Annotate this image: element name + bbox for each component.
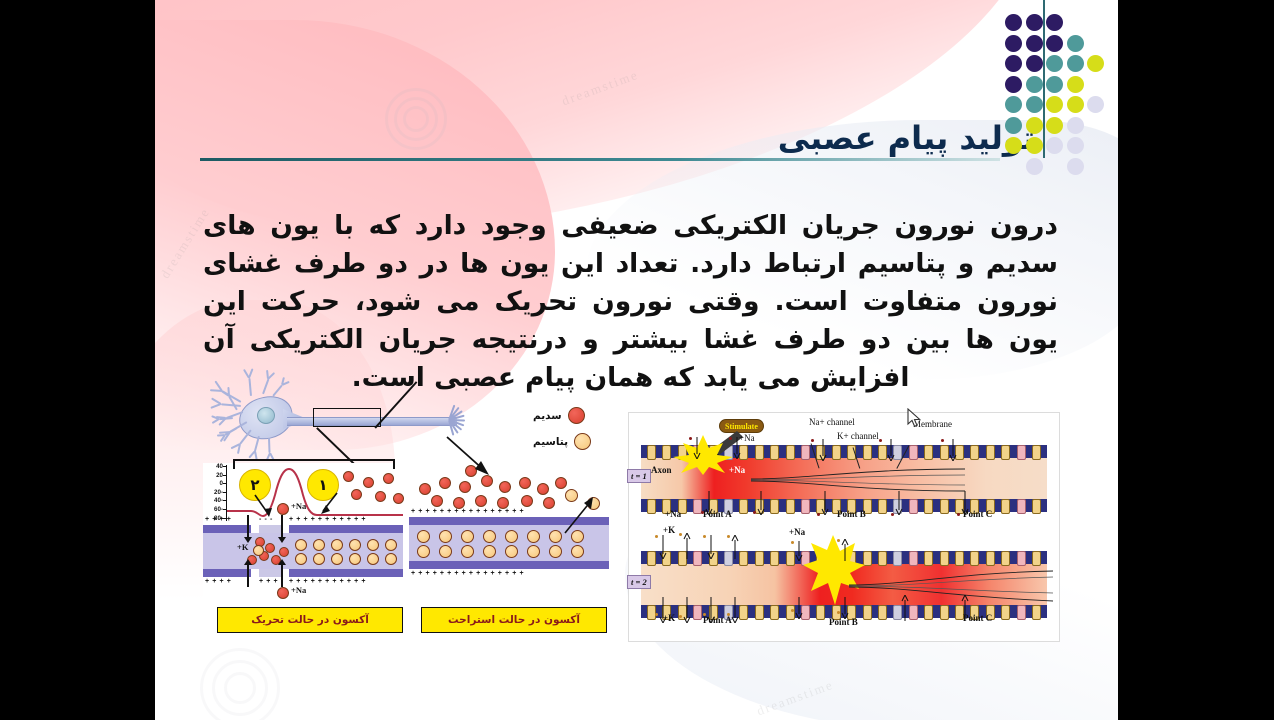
ion-transit-arrow bbox=[659, 535, 667, 559]
label-k-channel: K+ channel bbox=[837, 431, 879, 441]
graph-y-tick-mark bbox=[223, 483, 227, 484]
ion-sodium bbox=[439, 477, 451, 489]
na-channel-icon bbox=[739, 605, 748, 620]
current-flow-lines-t2 bbox=[847, 569, 1057, 603]
ion-sodium bbox=[521, 495, 533, 507]
ion-transit-arrow bbox=[901, 595, 909, 621]
logo-dot-purple bbox=[1005, 76, 1022, 93]
na-channel-icon bbox=[755, 551, 764, 566]
na-channel-icon bbox=[986, 445, 995, 460]
membrane-excited: + + + + - - - + + + + + + + + + + + + + … bbox=[203, 525, 403, 587]
ion-sodium bbox=[277, 503, 289, 515]
ion-sodium bbox=[499, 481, 511, 493]
logo-dot-lavender bbox=[1087, 96, 1104, 113]
mouse-pointer bbox=[907, 408, 921, 428]
ion-dot-sodium bbox=[957, 513, 960, 516]
k-channel-icon bbox=[693, 605, 702, 620]
na-channel-icon bbox=[770, 551, 779, 566]
logo-dot-teal bbox=[1005, 117, 1022, 134]
na-channel-icon bbox=[878, 445, 887, 460]
ion-dot-potassium bbox=[679, 615, 682, 618]
ion-transit-arrow bbox=[731, 535, 739, 559]
ion-transit-arrow bbox=[707, 535, 715, 559]
graph-pointer-arrow bbox=[315, 491, 341, 517]
label-sodium-ion-t1: Na+ bbox=[739, 433, 755, 443]
ion-transit-arrow bbox=[705, 491, 713, 515]
ion-potassium bbox=[367, 539, 379, 551]
flow-arrow-down bbox=[247, 515, 249, 537]
membrane-layer-open bbox=[259, 525, 283, 533]
logo-dot-purple bbox=[1026, 35, 1043, 52]
legend-item-potassium: پتاسیم bbox=[533, 433, 591, 450]
k-channel-icon bbox=[693, 551, 702, 566]
ion-potassium bbox=[349, 553, 361, 565]
ion-dot-potassium bbox=[703, 535, 706, 538]
logo-dot-lavender bbox=[1067, 137, 1084, 154]
ion-sodium bbox=[431, 495, 443, 507]
na-channel-icon bbox=[1032, 499, 1041, 514]
logo-dot-lavender bbox=[1046, 137, 1063, 154]
logo-dot-teal bbox=[1067, 35, 1084, 52]
presentation-slide: dreamstime dreamstime dreamstime dreamst… bbox=[155, 0, 1118, 720]
ion-transit-arrow bbox=[795, 541, 803, 561]
na-channel-icon bbox=[647, 551, 656, 566]
label-axon: Axon bbox=[651, 465, 672, 475]
na-channel-icon bbox=[1001, 605, 1010, 620]
logo-dot-teal bbox=[1026, 76, 1043, 93]
screenshot-stage: dreamstime dreamstime dreamstime dreamst… bbox=[0, 0, 1274, 720]
watermark-spiral-icon bbox=[200, 648, 280, 720]
ion-sodium bbox=[277, 587, 289, 599]
ion-dot-potassium bbox=[679, 533, 682, 536]
dendrite-branch bbox=[227, 387, 230, 396]
logo-dot-purple bbox=[1026, 55, 1043, 72]
graph-y-tick-mark bbox=[223, 509, 227, 510]
current-flow-lines-t1 bbox=[749, 465, 969, 495]
logo-dot-yellow bbox=[1046, 117, 1063, 134]
na-channel-icon bbox=[940, 605, 949, 620]
label-na-outside: Na+ bbox=[665, 509, 681, 519]
flow-arrow-up bbox=[281, 565, 283, 587]
time-label-t1: t = 1 bbox=[627, 469, 651, 483]
legend-swatch-potassium bbox=[574, 433, 591, 450]
logo-dot-yellow bbox=[1067, 96, 1084, 113]
legend-label-potassium: پتاسیم bbox=[533, 436, 568, 448]
ion-potassium bbox=[417, 545, 430, 558]
propagation-panel-t2: t = 2 K+ K+ Na+ Point A Point B Point C bbox=[641, 547, 1047, 631]
logo-dot-purple bbox=[1026, 14, 1043, 31]
ion-potassium bbox=[417, 530, 430, 543]
ion-transit-arrow bbox=[895, 491, 903, 515]
letterbox-left bbox=[0, 0, 155, 720]
na-channel-icon bbox=[986, 551, 995, 566]
ion-dot-potassium bbox=[837, 611, 840, 614]
graph-y-tick: -20 bbox=[203, 489, 223, 498]
ion-transit-arrow bbox=[841, 597, 849, 619]
ion-label-sodium: Na+ bbox=[291, 585, 306, 595]
ion-sodium bbox=[363, 477, 374, 488]
k-channel-icon bbox=[909, 605, 918, 620]
na-channel-icon bbox=[770, 605, 779, 620]
label-point-b-t1: Point B bbox=[837, 509, 866, 519]
ion-sodium bbox=[393, 493, 404, 504]
logo-dot-yellow bbox=[1087, 55, 1104, 72]
graph-y-tick: -40 bbox=[203, 497, 223, 506]
ion-transit-arrow bbox=[819, 439, 827, 461]
panel-axon-excited: 40200-20-40-60-80 ۲ ۱ bbox=[203, 463, 403, 603]
logo-dot-yellow bbox=[1026, 117, 1043, 134]
ion-potassium bbox=[313, 539, 325, 551]
ion-transit-arrow bbox=[795, 597, 803, 619]
caption-axon-excited: آکسون در حالت تحریک bbox=[217, 607, 403, 633]
na-channel-icon bbox=[924, 551, 933, 566]
propagation-panel-t1: t = 1 Stimulate Na+ Na+ channel K+ chann… bbox=[641, 441, 1047, 525]
na-channel-icon bbox=[940, 445, 949, 460]
na-channel-icon bbox=[770, 445, 779, 460]
membrane-layer bbox=[409, 561, 609, 569]
ion-sodium bbox=[543, 497, 555, 509]
ion-dot-sodium bbox=[817, 513, 820, 516]
graph-y-tick-mark bbox=[223, 492, 227, 493]
ion-potassium bbox=[549, 545, 562, 558]
na-channel-icon bbox=[1032, 605, 1041, 620]
ion-potassium bbox=[527, 545, 540, 558]
ion-potassium bbox=[439, 530, 452, 543]
ion-label-sodium: Na+ bbox=[291, 501, 306, 511]
neuron-action-potential-diagram: سدیم پتاسیم 40200-20-40-60-80 ۲ ۱ bbox=[203, 385, 615, 640]
na-channel-icon bbox=[832, 445, 841, 460]
na-channel-icon bbox=[755, 605, 764, 620]
ion-dot-potassium bbox=[837, 539, 840, 542]
ion-dot-potassium bbox=[655, 535, 658, 538]
ion-dot-potassium bbox=[655, 613, 658, 616]
na-channel-icon bbox=[893, 551, 902, 566]
na-channel-icon bbox=[878, 499, 887, 514]
dendrite bbox=[224, 427, 237, 436]
dendrite bbox=[272, 385, 283, 397]
ion-transit-arrow bbox=[841, 539, 849, 561]
ion-dot-sodium bbox=[879, 439, 882, 442]
ion-potassium bbox=[313, 553, 325, 565]
dendrite bbox=[268, 438, 271, 453]
title-divider-horizontal bbox=[200, 158, 1000, 161]
na-channel-icon bbox=[647, 445, 656, 460]
ion-label-potassium: K+ bbox=[237, 542, 248, 552]
ion-transit-arrow bbox=[821, 491, 829, 515]
ion-dot-sodium bbox=[701, 511, 704, 514]
ion-potassium bbox=[505, 530, 518, 543]
charge-signs-outer-top: - - - bbox=[259, 516, 273, 523]
logo-dot-yellow bbox=[1026, 137, 1043, 154]
dendrite bbox=[221, 403, 241, 407]
graph-y-tick-mark bbox=[223, 475, 227, 476]
ion-potassium bbox=[439, 545, 452, 558]
ion-sodium bbox=[383, 473, 394, 484]
logo-dot-yellow bbox=[1046, 96, 1063, 113]
na-channel-icon bbox=[1032, 551, 1041, 566]
membrane-layer bbox=[203, 525, 251, 533]
axon-zoom-box bbox=[313, 408, 381, 427]
ion-sodium bbox=[351, 489, 362, 500]
ion-potassium bbox=[295, 539, 307, 551]
membrane-layer-open bbox=[259, 569, 283, 577]
ion-transit-arrow bbox=[887, 439, 895, 461]
na-channel-icon bbox=[786, 499, 795, 514]
ion-potassium bbox=[483, 530, 496, 543]
ion-dot-potassium bbox=[791, 541, 794, 544]
ion-potassium bbox=[331, 553, 343, 565]
page-title: تولید پیام عصبی bbox=[335, 119, 1035, 157]
na-channel-icon bbox=[739, 499, 748, 514]
na-channel-icon bbox=[1001, 445, 1010, 460]
logo-dot-purple bbox=[1005, 14, 1022, 31]
na-channel-icon bbox=[786, 605, 795, 620]
ion-exit-arrow bbox=[559, 495, 599, 539]
charge-signs-outer-top: + + + + bbox=[205, 516, 231, 523]
membrane-layer bbox=[289, 525, 403, 533]
na-channel-icon bbox=[924, 445, 933, 460]
label-sodium-inside: Na+ bbox=[729, 465, 745, 475]
ion-potassium bbox=[331, 539, 343, 551]
zoom-pointer-arrow bbox=[445, 435, 503, 477]
charge-signs-outer-top: + + + + + + + + + + + + + + + + bbox=[411, 508, 524, 515]
na-channel-icon bbox=[878, 551, 887, 566]
logo-dot-lavender bbox=[1026, 158, 1043, 175]
ion-dot-potassium bbox=[791, 609, 794, 612]
logo-dot-yellow bbox=[1067, 76, 1084, 93]
ion-sodium bbox=[555, 477, 567, 489]
ion-potassium bbox=[461, 545, 474, 558]
ion-sodium bbox=[419, 483, 431, 495]
na-channel-icon bbox=[770, 499, 779, 514]
flow-arrow-up bbox=[247, 565, 249, 587]
action-potential-propagation-diagram: t = 1 Stimulate Na+ Na+ channel K+ chann… bbox=[628, 412, 1060, 642]
logo-dot-purple bbox=[1046, 14, 1063, 31]
flow-arrow-down bbox=[281, 515, 283, 537]
ion-transit-arrow bbox=[659, 597, 667, 623]
na-channel-icon bbox=[786, 551, 795, 566]
ion-dot-sodium bbox=[811, 439, 814, 442]
ion-potassium bbox=[295, 553, 307, 565]
ion-transit-arrow bbox=[961, 491, 969, 515]
membrane-layer bbox=[289, 569, 403, 577]
na-channel-icon bbox=[878, 605, 887, 620]
logo-dot-teal bbox=[1005, 96, 1022, 113]
ion-potassium bbox=[527, 530, 540, 543]
k-channel-icon bbox=[1017, 445, 1026, 460]
body-paragraph: درون نورون جریان الکتریکی ضعیفی وجود دار… bbox=[203, 207, 1058, 397]
ion-sodium bbox=[459, 481, 471, 493]
na-channel-icon bbox=[970, 551, 979, 566]
ion-dot-sodium bbox=[753, 511, 756, 514]
panel-axon-resting: + + + + + + + + + + + + + + + + + + + + … bbox=[409, 463, 609, 603]
ion-transit-arrow bbox=[683, 533, 691, 559]
ion-sodium bbox=[537, 483, 549, 495]
ion-potassium bbox=[483, 545, 496, 558]
graph-y-tick: 0 bbox=[203, 480, 223, 489]
k-channel-icon bbox=[801, 445, 810, 460]
na-channel-icon bbox=[970, 445, 979, 460]
na-channel-icon bbox=[1032, 445, 1041, 460]
ion-sodium bbox=[343, 471, 354, 482]
ion-sodium bbox=[475, 495, 487, 507]
ion-transit-arrow bbox=[961, 595, 969, 621]
membrane-layer bbox=[203, 569, 251, 577]
label-na-channel: Na+ channel bbox=[809, 417, 855, 427]
ion-dot-sodium bbox=[891, 513, 894, 516]
ion-dot-potassium bbox=[727, 613, 730, 616]
logo-dot-teal bbox=[1046, 76, 1063, 93]
ion-sodium bbox=[375, 491, 386, 502]
graph-y-tick-mark bbox=[223, 500, 227, 501]
na-channel-icon bbox=[647, 499, 656, 514]
caption-axon-resting: آکسون در حالت استراحت bbox=[421, 607, 607, 633]
na-channel-icon bbox=[940, 551, 949, 566]
charge-signs-outer-bottom: + + + + bbox=[205, 578, 231, 585]
ion-dot-sodium bbox=[689, 437, 692, 440]
ion-transit-arrow bbox=[731, 597, 739, 623]
title-block: تولید پیام عصبی bbox=[200, 0, 1045, 161]
ion-potassium bbox=[253, 545, 264, 556]
na-channel-icon bbox=[924, 605, 933, 620]
dendrite bbox=[219, 417, 233, 420]
logo-dot-yellow bbox=[1005, 137, 1022, 154]
na-channel-icon bbox=[739, 551, 748, 566]
graph-y-tick: -60 bbox=[203, 506, 223, 515]
ion-sodium bbox=[279, 547, 289, 557]
na-channel-icon bbox=[786, 445, 795, 460]
ion-transit-arrow bbox=[757, 491, 765, 515]
logo-dot-lavender bbox=[1067, 117, 1084, 134]
ion-potassium bbox=[505, 545, 518, 558]
ion-potassium bbox=[349, 539, 361, 551]
k-channel-icon bbox=[909, 445, 918, 460]
ion-transit-arrow bbox=[949, 439, 957, 461]
na-channel-icon bbox=[924, 499, 933, 514]
charge-signs-outer-bottom: + + + + + + + + + + + bbox=[289, 578, 366, 585]
logo-dot-teal bbox=[1046, 55, 1063, 72]
charge-signs-outer-bottom: + + + + + + + + + + + + + + + + bbox=[411, 570, 524, 577]
ion-potassium bbox=[571, 545, 584, 558]
graph-y-tick: 40 bbox=[203, 463, 223, 472]
neuron-illustration bbox=[207, 387, 457, 449]
na-channel-icon bbox=[1001, 551, 1010, 566]
logo-dot-teal bbox=[1026, 96, 1043, 113]
legend-swatch-sodium bbox=[568, 407, 585, 424]
logo-dot-lavender bbox=[1067, 158, 1084, 175]
k-channel-icon bbox=[801, 499, 810, 514]
ion-transit-arrow bbox=[707, 597, 715, 623]
letterbox-right bbox=[1118, 0, 1274, 720]
charge-signs-outer-top: + + + + + + + + + + + bbox=[289, 516, 366, 523]
ion-dot-sodium bbox=[941, 439, 944, 442]
k-channel-icon bbox=[909, 551, 918, 566]
ion-potassium bbox=[461, 530, 474, 543]
graph-y-tick-mark bbox=[223, 466, 227, 467]
logo-dot-teal bbox=[1067, 55, 1084, 72]
k-channel-icon bbox=[1017, 551, 1026, 566]
ion-potassium bbox=[367, 553, 379, 565]
nucleus-shape bbox=[257, 407, 275, 424]
ion-transit-arrow bbox=[693, 437, 701, 459]
dot-grid-logo bbox=[1005, 14, 1105, 159]
graph-y-tick: 20 bbox=[203, 472, 223, 481]
ion-dot-sodium bbox=[729, 437, 732, 440]
na-channel-icon bbox=[1001, 499, 1010, 514]
membrane-resting: + + + + + + + + + + + + + + + + + + + + … bbox=[409, 517, 609, 579]
na-channel-icon bbox=[755, 445, 764, 460]
time-label-t2: t = 2 bbox=[627, 575, 651, 589]
charge-signs-outer-bottom: + + + bbox=[259, 578, 278, 585]
graph-y-tick-labels: 40200-20-40-60-80 bbox=[203, 463, 223, 523]
na-channel-icon bbox=[955, 551, 964, 566]
label-potassium-top: K+ bbox=[663, 525, 675, 535]
na-channel-icon bbox=[863, 445, 872, 460]
logo-dot-purple bbox=[1005, 35, 1022, 52]
ion-transit-arrow bbox=[683, 597, 691, 623]
watermark-text: dreamstime bbox=[755, 677, 836, 720]
na-channel-icon bbox=[940, 499, 949, 514]
legend-item-sodium: سدیم bbox=[533, 407, 585, 424]
ion-sodium bbox=[519, 477, 531, 489]
ion-potassium bbox=[385, 539, 397, 551]
k-channel-icon bbox=[1017, 499, 1026, 514]
k-channel-icon bbox=[909, 499, 918, 514]
ion-dot-potassium bbox=[727, 535, 730, 538]
ion-dot-potassium bbox=[703, 613, 706, 616]
ion-transit-arrow bbox=[733, 437, 741, 459]
logo-dot-purple bbox=[1046, 35, 1063, 52]
ion-potassium bbox=[385, 553, 397, 565]
legend-label-sodium: سدیم bbox=[533, 410, 562, 422]
k-channel-icon bbox=[1017, 605, 1026, 620]
logo-dot-purple bbox=[1005, 55, 1022, 72]
